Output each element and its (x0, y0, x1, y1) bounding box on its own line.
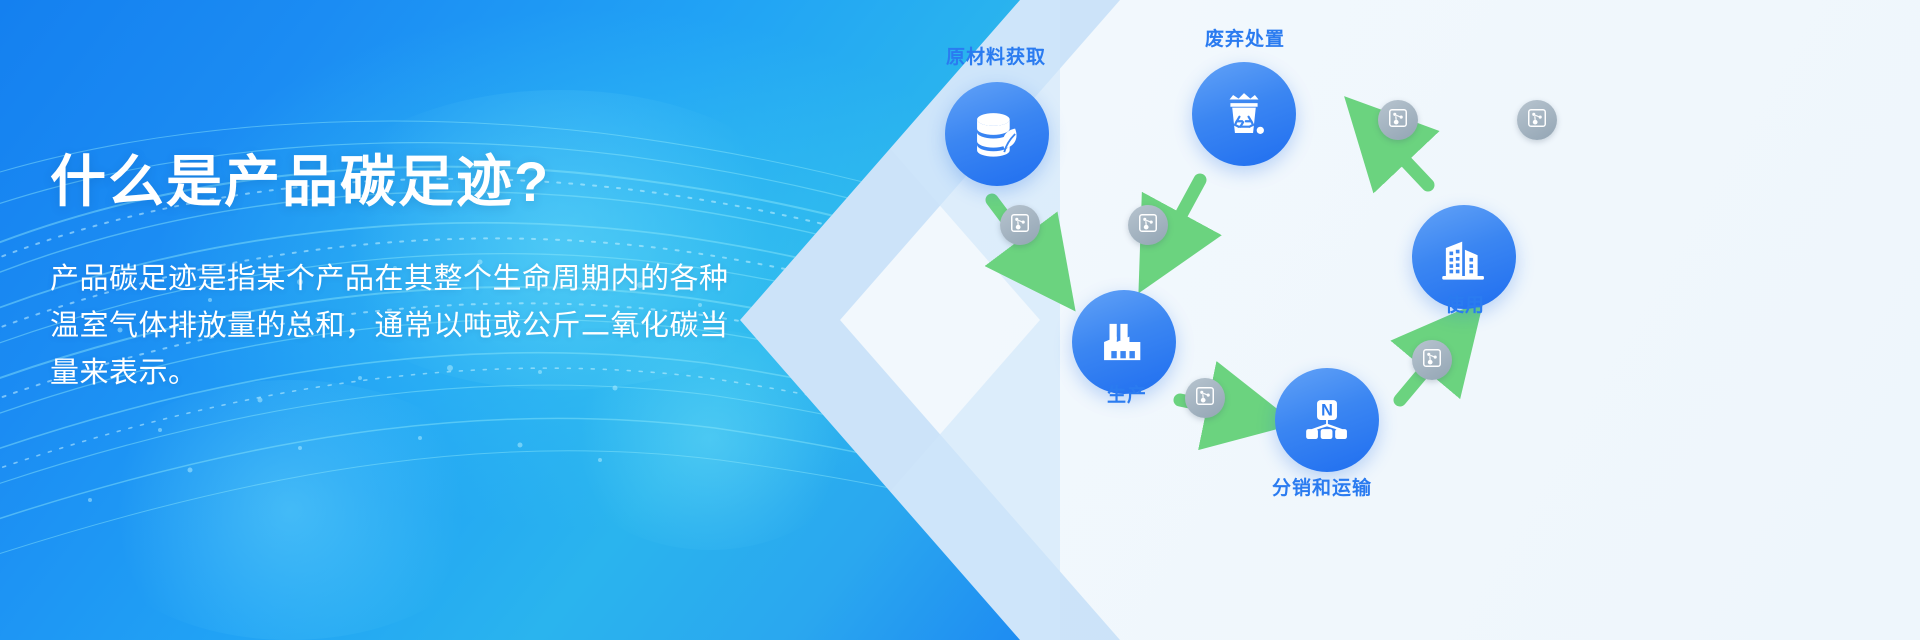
badge-share-2[interactable] (1000, 205, 1040, 245)
database-leaf-icon (968, 105, 1026, 163)
arrow-use-to-waste (1378, 132, 1428, 185)
page-title: 什么是产品碳足迹? (50, 150, 750, 214)
node-label-production: 生产 (1107, 380, 1147, 407)
flow-arrows (900, 0, 1920, 640)
hero-copy: 什么是产品碳足迹? 产品碳足迹是指某个产品在其整个生命周期内的各种温室气体排放量… (50, 150, 750, 397)
node-raw-material[interactable] (945, 82, 1049, 186)
badge-share-3[interactable] (1378, 100, 1418, 140)
badge-share-6[interactable] (1517, 100, 1557, 140)
share-graph-icon (1526, 107, 1548, 134)
arrow-waste-to-production (1162, 180, 1200, 250)
node-label-use: 使用 (1445, 290, 1485, 317)
node-distribution[interactable]: N (1275, 368, 1379, 472)
buildings-icon (1435, 228, 1493, 286)
node-label-waste-disposal: 废弃处置 (1205, 24, 1285, 51)
node-production[interactable] (1072, 290, 1176, 394)
share-graph-icon (1194, 385, 1216, 412)
node-label-distribution: 分销和运输 (1272, 473, 1372, 500)
share-graph-icon (1387, 107, 1409, 134)
badge-share-5[interactable] (1185, 378, 1225, 418)
svg-text:N: N (1321, 401, 1333, 419)
lifecycle-diagram: 原材料获取 废弃处置 (900, 0, 1920, 640)
node-label-raw-material: 原材料获取 (946, 42, 1046, 69)
network-node-icon: N (1298, 391, 1356, 449)
share-graph-icon (1009, 212, 1031, 239)
badge-share-1[interactable] (1128, 205, 1168, 245)
recycle-bin-icon (1215, 85, 1273, 143)
share-graph-icon (1421, 347, 1443, 374)
share-graph-icon (1137, 212, 1159, 239)
badge-share-4[interactable] (1412, 340, 1452, 380)
hero-banner: 什么是产品碳足迹? 产品碳足迹是指某个产品在其整个生命周期内的各种温室气体排放量… (0, 0, 1920, 640)
factory-icon (1095, 313, 1153, 371)
hero-description: 产品碳足迹是指某个产品在其整个生命周期内的各种温室气体排放量的总和，通常以吨或公… (50, 256, 740, 397)
node-waste-disposal[interactable] (1192, 62, 1296, 166)
